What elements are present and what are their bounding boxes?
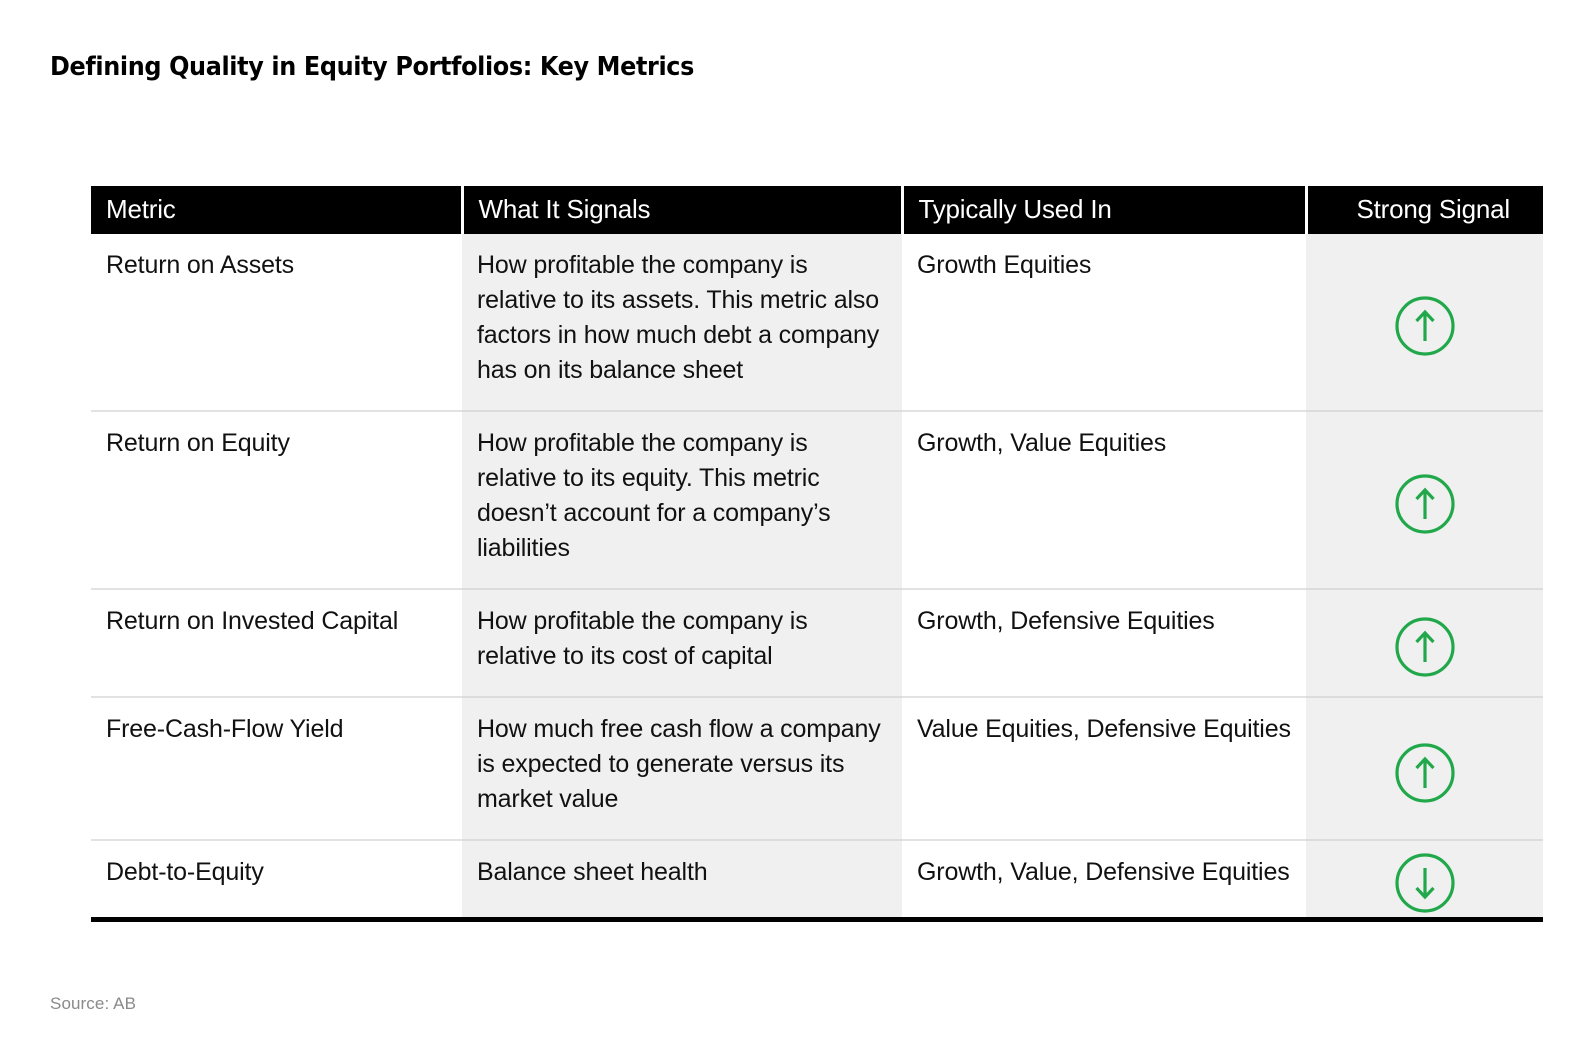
arrow-up-circle-icon	[1392, 614, 1458, 680]
cell-strong-signal	[1306, 697, 1543, 840]
arrow-up-circle-icon	[1392, 471, 1458, 537]
cell-typically-used-in: Growth, Defensive Equities	[902, 589, 1306, 697]
cell-what-it-signals: How profitable the company is relative t…	[462, 589, 902, 697]
table-header-row: Metric What It Signals Typically Used In…	[91, 186, 1543, 234]
column-header-metric: Metric	[91, 186, 462, 234]
cell-typically-used-in: Growth Equities	[902, 234, 1306, 411]
table-row: Return on Equity How profitable the comp…	[91, 411, 1543, 589]
table-bottom-rule	[91, 917, 1543, 922]
table-row: Return on Invested Capital How profitabl…	[91, 589, 1543, 697]
cell-typically-used-in: Growth, Value, Defensive Equities	[902, 840, 1306, 917]
arrow-up-circle-icon	[1392, 293, 1458, 359]
cell-strong-signal	[1306, 840, 1543, 917]
table-row: Free-Cash-Flow Yield How much free cash …	[91, 697, 1543, 840]
cell-metric: Free-Cash-Flow Yield	[91, 697, 462, 840]
page-title: Defining Quality in Equity Portfolios: K…	[50, 52, 694, 82]
column-header-what-it-signals: What It Signals	[462, 186, 902, 234]
cell-what-it-signals: How profitable the company is relative t…	[462, 411, 902, 589]
cell-what-it-signals: How profitable the company is relative t…	[462, 234, 902, 411]
arrow-up-circle-icon	[1392, 740, 1458, 806]
cell-typically-used-in: Value Equities, Defensive Equities	[902, 697, 1306, 840]
cell-what-it-signals: How much free cash flow a company is exp…	[462, 697, 902, 840]
arrow-down-circle-icon	[1392, 850, 1458, 916]
cell-metric: Debt-to-Equity	[91, 840, 462, 917]
cell-strong-signal	[1306, 234, 1543, 411]
column-header-typically-used-in: Typically Used In	[902, 186, 1306, 234]
cell-metric: Return on Assets	[91, 234, 462, 411]
cell-strong-signal	[1306, 589, 1543, 697]
source-note: Source: AB	[50, 994, 136, 1014]
table-body: Return on Assets How profitable the comp…	[91, 234, 1543, 917]
metrics-table-container: Metric What It Signals Typically Used In…	[91, 186, 1543, 922]
table-header: Metric What It Signals Typically Used In…	[91, 186, 1543, 234]
column-header-strong-signal: Strong Signal	[1306, 186, 1543, 234]
cell-what-it-signals: Balance sheet health	[462, 840, 902, 917]
cell-metric: Return on Equity	[91, 411, 462, 589]
table-row: Return on Assets How profitable the comp…	[91, 234, 1543, 411]
metrics-table: Metric What It Signals Typically Used In…	[91, 186, 1543, 917]
cell-strong-signal	[1306, 411, 1543, 589]
cell-metric: Return on Invested Capital	[91, 589, 462, 697]
cell-typically-used-in: Growth, Value Equities	[902, 411, 1306, 589]
table-row: Debt-to-Equity Balance sheet health Grow…	[91, 840, 1543, 917]
